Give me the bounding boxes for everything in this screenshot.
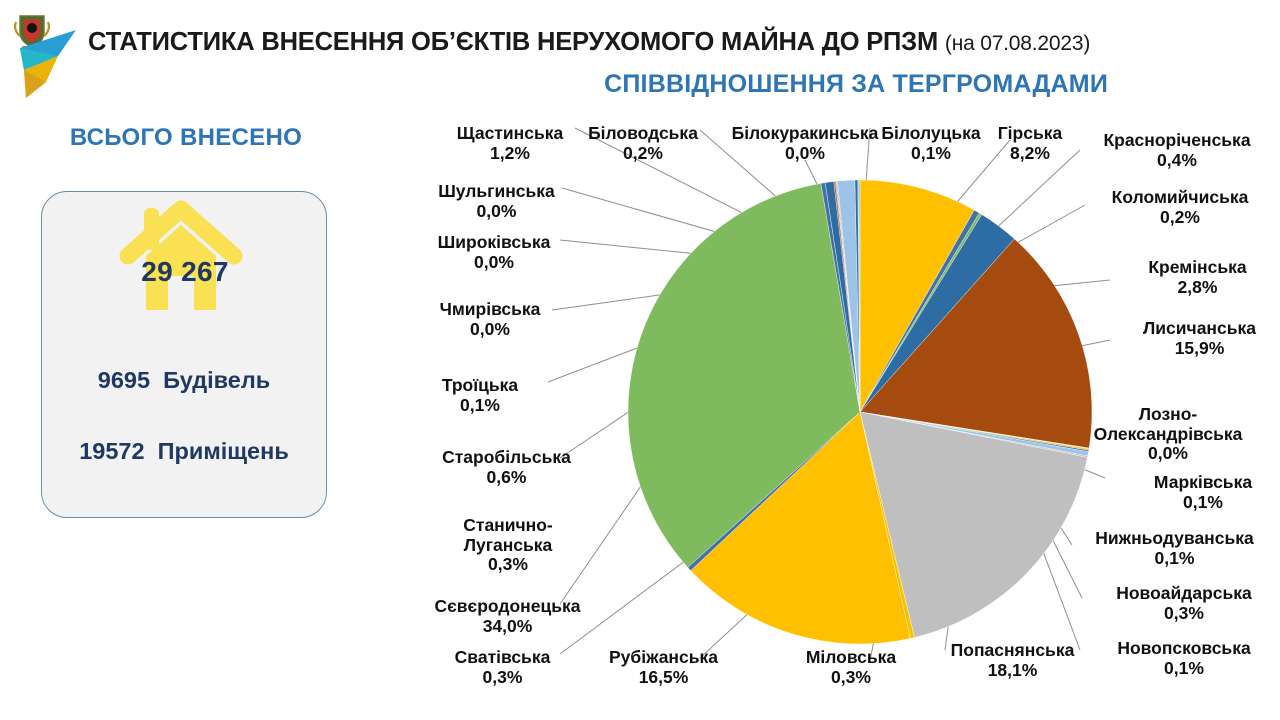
pie-label-value: 2,8% (1120, 278, 1275, 298)
pie-label-value: 16,5% (586, 668, 741, 688)
pie-slice (860, 215, 1014, 412)
buildings-label: Будівель (163, 367, 270, 394)
pie-slice (860, 412, 1089, 449)
pie-slices (628, 180, 1092, 644)
pie-slice (855, 180, 860, 412)
pie-label-value: 0,0% (424, 202, 569, 222)
pie-label-name: Нижньодуванська (1072, 529, 1277, 549)
pie-slice (836, 181, 860, 412)
pie-label: Чмирівська0,0% (420, 300, 560, 339)
pie-label: Біловодська0,2% (568, 124, 718, 163)
pie-label-value: 18,1% (930, 661, 1095, 681)
pie-label: Рубіжанська16,5% (586, 648, 741, 687)
leader-line (1001, 440, 1080, 650)
pie-slice (834, 181, 860, 412)
pie-label-name: Біловодська (568, 124, 718, 144)
pie-slice (860, 412, 1089, 456)
pie-slice (860, 412, 914, 639)
pie-slice (860, 210, 979, 412)
pie-slice (860, 412, 1088, 638)
pie-label-name: Старобільська (424, 448, 589, 468)
pie-slice (691, 412, 911, 644)
pie-label: Щастинська1,2% (435, 124, 585, 163)
leader-line (932, 150, 1080, 288)
pie-slice (860, 180, 974, 412)
pie-label-name: Сєвєродонецька (420, 597, 595, 617)
pie-label-name: Марківська (1128, 473, 1278, 493)
leader-line (560, 269, 841, 458)
pie-label-value: 0,0% (1068, 444, 1268, 464)
pie-label: Лисичанська15,9% (1122, 319, 1277, 358)
leader-line (945, 512, 964, 650)
leader-line (870, 552, 893, 660)
total-count: 29 267 (105, 256, 265, 288)
pie-label-name: Станично- Луганська (428, 516, 588, 555)
pie-label: Широківська0,0% (424, 233, 564, 272)
pie-slice (837, 180, 860, 412)
pie-label: Міловська0,3% (786, 648, 916, 687)
pie-slice (860, 213, 982, 412)
pie-label: Новоайдарська0,3% (1094, 584, 1274, 623)
pie-label: Сватівська0,3% (425, 648, 580, 687)
premises-label: Приміщень (158, 438, 289, 465)
pie-label-name: Новоайдарська (1094, 584, 1274, 604)
page-title-date: (на 07.08.2023) (945, 32, 1090, 55)
pie-slice (837, 181, 860, 412)
pie-slice (860, 412, 1089, 450)
pie-slice (860, 412, 1088, 457)
pie-label-name: Кремінська (1120, 258, 1275, 278)
pie-slice (821, 183, 860, 412)
pie-label: Попаснянська18,1% (930, 641, 1095, 680)
pie-label-name: Троїцька (420, 376, 540, 396)
leader-line (700, 549, 818, 658)
pie-label-name: Попаснянська (930, 641, 1095, 661)
leader-lines (548, 128, 1110, 660)
leader-line (552, 269, 845, 310)
pie-label-name: Сватівська (425, 648, 580, 668)
page-title: СТАТИСТИКА ВНЕСЕННЯ ОБ’ЄКТІВ НЕРУХОМОГО … (88, 28, 1268, 57)
coat-of-arms-and-flag-logo (6, 10, 88, 106)
pie-label: Нижньодуванська0,1% (1072, 529, 1277, 568)
pie-label: Коломийчиська0,2% (1090, 188, 1270, 227)
leader-line (946, 280, 1110, 297)
slide-canvas: СТАТИСТИКА ВНЕСЕННЯ ОБ’ЄКТІВ НЕРУХОМОГО … (0, 0, 1280, 720)
pie-label-name: Новопсковська (1094, 639, 1274, 659)
pie-label-name: Гірська (975, 124, 1085, 144)
pie-label-value: 0,3% (1094, 604, 1274, 624)
pie-label-value: 0,3% (428, 555, 588, 575)
pie-slice (860, 239, 1092, 448)
pie-label-value: 0,6% (424, 468, 589, 488)
pie-label: Новопсковська0,1% (1094, 639, 1274, 678)
pie-label-value: 0,1% (1072, 549, 1277, 569)
premises-stat: 19572 Приміщень (46, 438, 322, 465)
pie-slice (859, 180, 860, 412)
pie-label-name: Міловська (786, 648, 916, 668)
pie-label-value: 0,0% (420, 320, 560, 340)
pie-label: Шульгинська0,0% (424, 182, 569, 221)
leader-line (548, 269, 844, 382)
premises-count: 19572 (79, 438, 144, 465)
pie-slice (860, 412, 1089, 452)
leader-line (805, 160, 859, 268)
leader-line (560, 240, 845, 269)
pie-label-name: Широківська (424, 233, 564, 253)
pie-label-value: 0,1% (1094, 659, 1274, 679)
pie-label-value: 0,4% (1082, 151, 1272, 171)
pie-label-name: Лисичанська (1122, 319, 1277, 339)
pie-slice (628, 183, 860, 567)
leader-line (996, 340, 1111, 364)
page-title-text: СТАТИСТИКА ВНЕСЕННЯ ОБ’ЄКТІВ НЕРУХОМОГО … (88, 28, 938, 56)
pie-label: Лозно- Олександрівська0,0% (1068, 405, 1268, 464)
pie-label-value: 0,2% (1090, 208, 1270, 228)
pie-label-name: Щастинська (435, 124, 585, 144)
pie-label-name: Чмирівська (420, 300, 560, 320)
pie-slice (825, 181, 860, 412)
buildings-count: 9695 (98, 367, 150, 394)
pie-label-value: 0,2% (568, 144, 718, 164)
pie-label-value: 0,1% (420, 396, 540, 416)
page-subtitle: СПІВВІДНОШЕННЯ ЗА ТЕРГРОМАДАМИ (88, 70, 1108, 99)
pie-label-name: Красноріченська (1082, 131, 1272, 151)
pie-label-name: Лозно- Олександрівська (1068, 405, 1268, 444)
pie-label: Сєвєродонецька34,0% (420, 597, 595, 636)
pie-label-value: 0,1% (1128, 493, 1278, 513)
pie-slice (858, 180, 860, 412)
pie-slice (688, 412, 860, 571)
pie-label: Троїцька0,1% (420, 376, 540, 415)
pie-label: Гірська8,2% (975, 124, 1085, 163)
summary-heading: ВСЬОГО ВНЕСЕНО (36, 124, 336, 152)
pie-label: Марківська0,1% (1128, 473, 1278, 512)
buildings-stat: 9695 Будівель (46, 367, 322, 394)
pie-label-value: 34,0% (420, 617, 595, 637)
pie-label-value: 0,3% (425, 668, 580, 688)
pie-label: Станично- Луганська0,3% (428, 516, 588, 575)
leader-line (935, 205, 1085, 289)
pie-label-name: Коломийчиська (1090, 188, 1270, 208)
pie-label: Старобільська0,6% (424, 448, 589, 487)
leader-line (1002, 436, 1072, 545)
pie-slice (835, 181, 860, 412)
pie-label-value: 15,9% (1122, 339, 1277, 359)
pie-label-name: Рубіжанська (586, 648, 741, 668)
pie-label-value: 1,2% (435, 144, 585, 164)
pie-label-value: 0,0% (424, 253, 564, 273)
pie-label-name: Шульгинська (424, 182, 569, 202)
pie-label-value: 0,3% (786, 668, 916, 688)
pie-label: Красноріченська0,4% (1082, 131, 1272, 170)
pie-label-value: 8,2% (975, 144, 1085, 164)
leader-line (562, 188, 846, 269)
pie-label: Кремінська2,8% (1120, 258, 1275, 297)
